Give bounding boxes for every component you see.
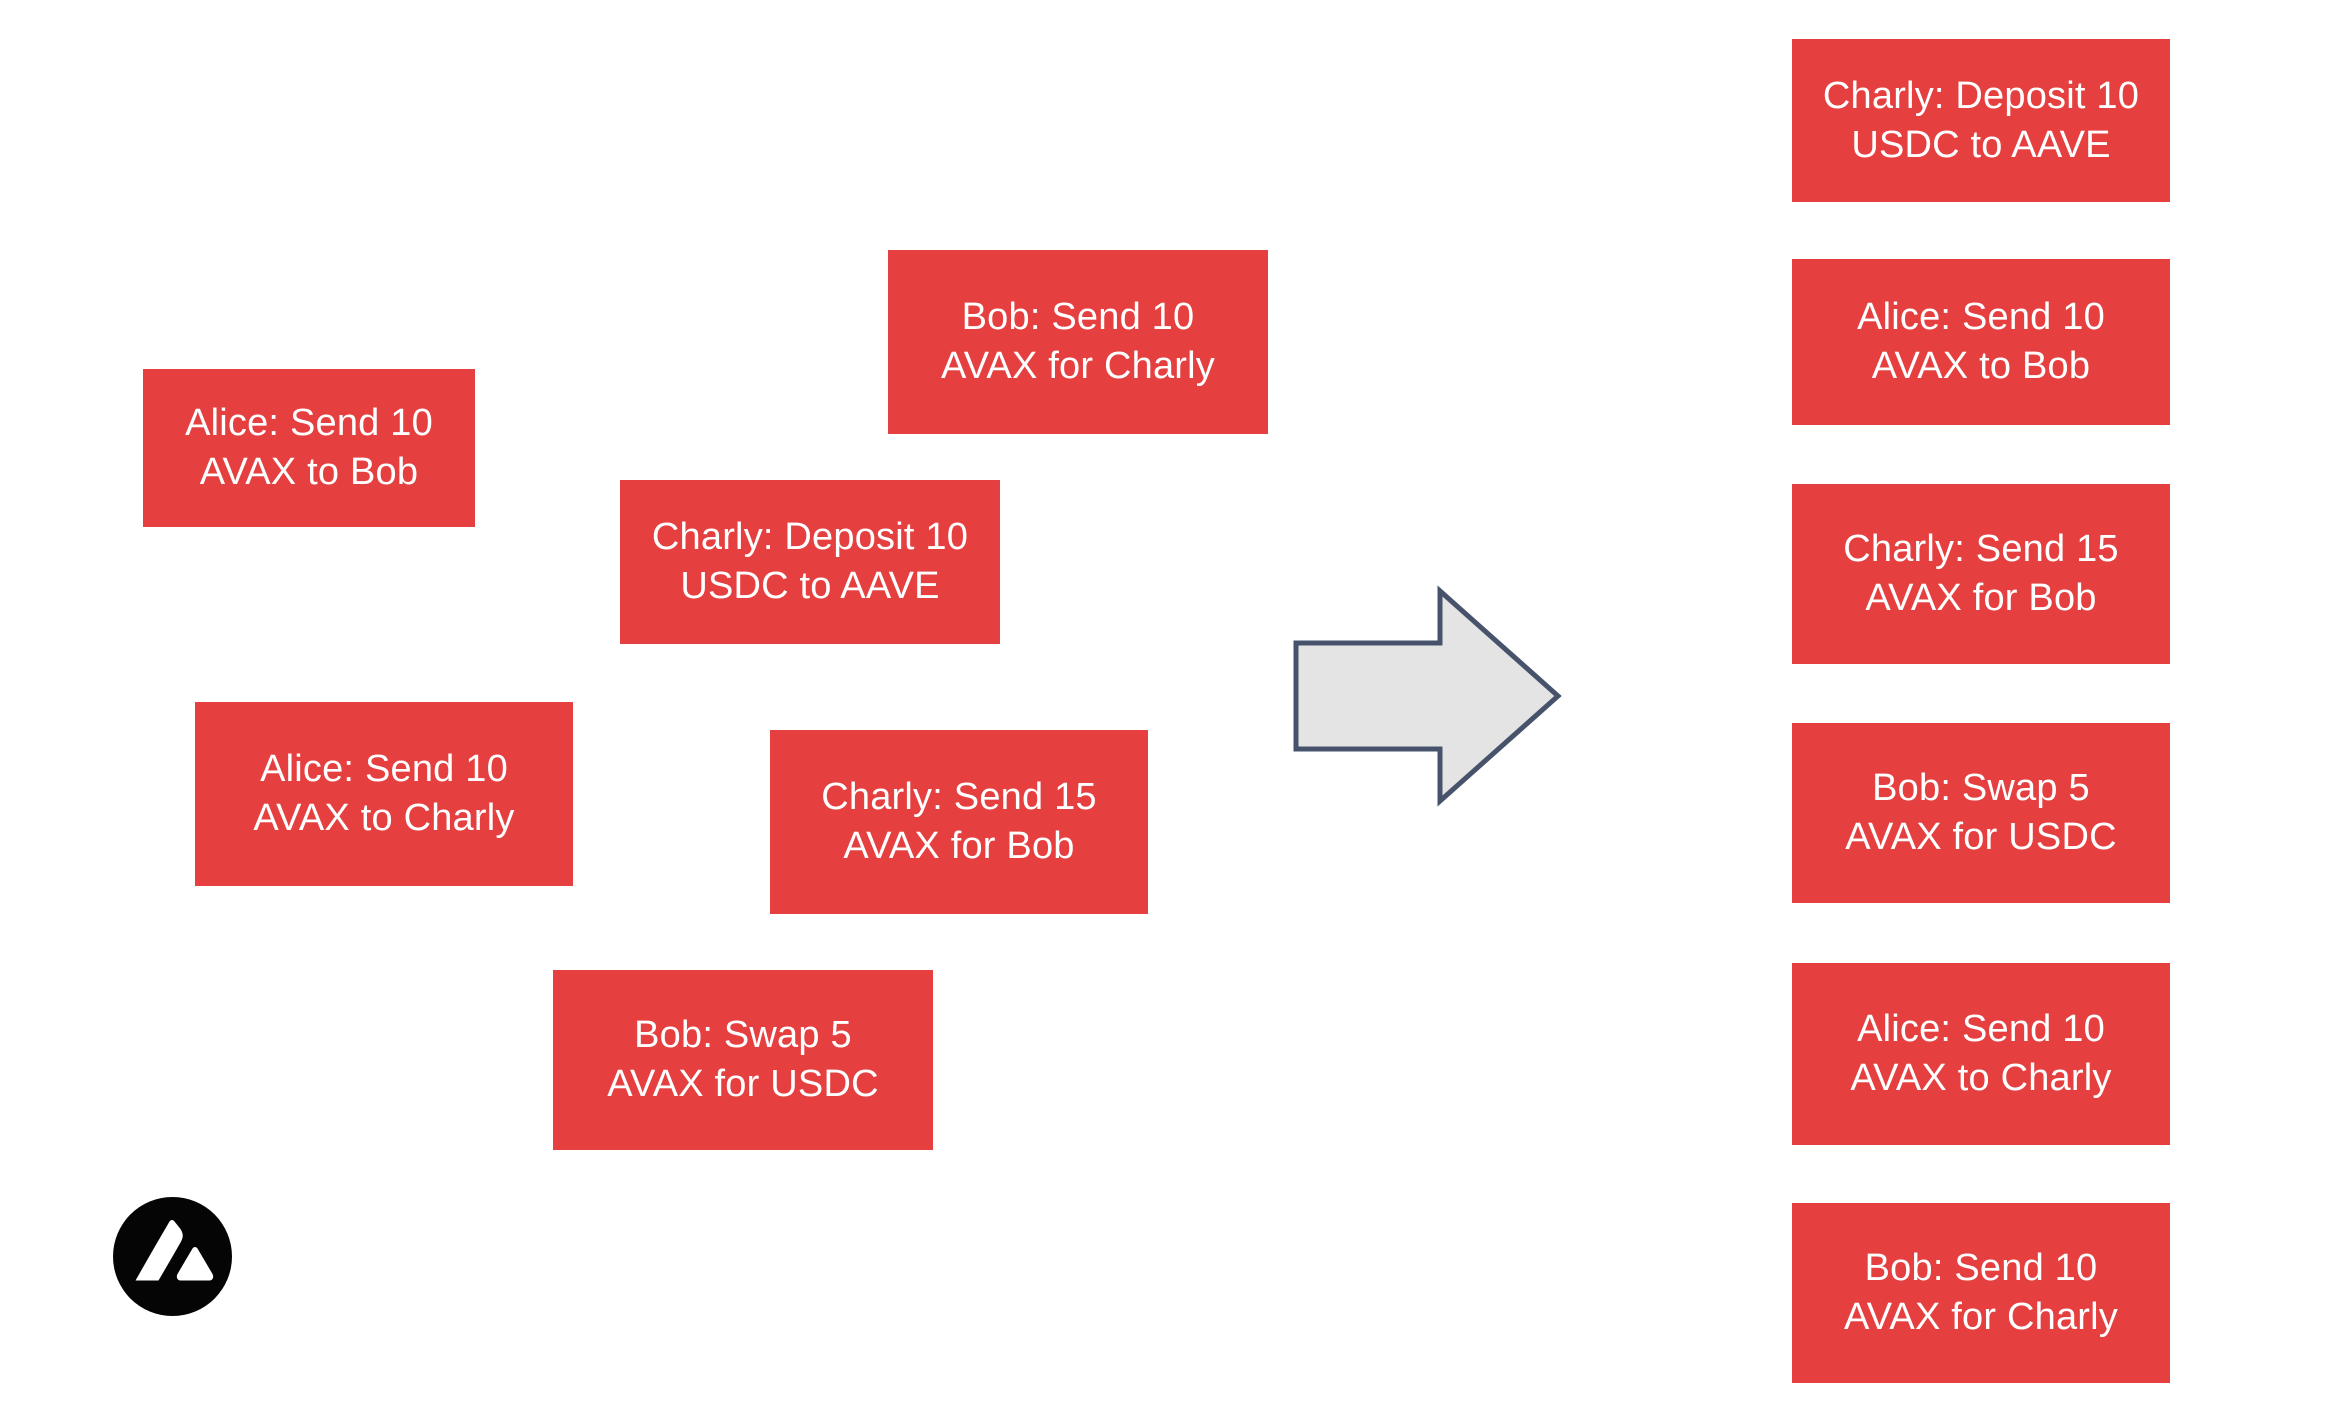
ordered-transaction-box-2[interactable]: Alice: Send 10 AVAX to Bob [1792,259,2170,425]
transaction-label: Bob: Swap 5 AVAX for USDC [1845,764,2116,861]
avalanche-logo-icon [113,1197,232,1316]
unordered-transaction-box-1[interactable]: Bob: Send 10 AVAX for Charly [888,250,1268,434]
unordered-transaction-box-2[interactable]: Alice: Send 10 AVAX to Bob [143,369,475,527]
unordered-transaction-box-4[interactable]: Alice: Send 10 AVAX to Charly [195,702,573,886]
ordered-transaction-box-6[interactable]: Bob: Send 10 AVAX for Charly [1792,1203,2170,1383]
transaction-label: Alice: Send 10 AVAX to Charly [1850,1005,2111,1102]
ordered-transaction-box-1[interactable]: Charly: Deposit 10 USDC to AAVE [1792,39,2170,202]
transaction-label: Alice: Send 10 AVAX to Charly [253,745,514,842]
transaction-label: Charly: Send 15 AVAX for Bob [1843,525,2119,622]
ordered-transaction-box-4[interactable]: Bob: Swap 5 AVAX for USDC [1792,723,2170,903]
unordered-transaction-box-5[interactable]: Charly: Send 15 AVAX for Bob [770,730,1148,914]
ordered-transaction-box-5[interactable]: Alice: Send 10 AVAX to Charly [1792,963,2170,1145]
transaction-label: Charly: Send 15 AVAX for Bob [821,773,1097,870]
transaction-label: Bob: Send 10 AVAX for Charly [1844,1244,2118,1341]
unordered-transaction-box-3[interactable]: Charly: Deposit 10 USDC to AAVE [620,480,1000,644]
transaction-label: Bob: Swap 5 AVAX for USDC [607,1011,878,1108]
diagram-canvas: Bob: Send 10 AVAX for CharlyAlice: Send … [0,0,2348,1404]
right-arrow-icon [1292,585,1562,807]
transaction-label: Bob: Send 10 AVAX for Charly [941,293,1215,390]
unordered-transaction-box-6[interactable]: Bob: Swap 5 AVAX for USDC [553,970,933,1150]
transaction-label: Alice: Send 10 AVAX to Bob [1857,293,2105,390]
transaction-label: Alice: Send 10 AVAX to Bob [185,399,433,496]
transaction-label: Charly: Deposit 10 USDC to AAVE [652,513,968,610]
ordered-transaction-box-3[interactable]: Charly: Send 15 AVAX for Bob [1792,484,2170,664]
transaction-label: Charly: Deposit 10 USDC to AAVE [1823,72,2139,169]
